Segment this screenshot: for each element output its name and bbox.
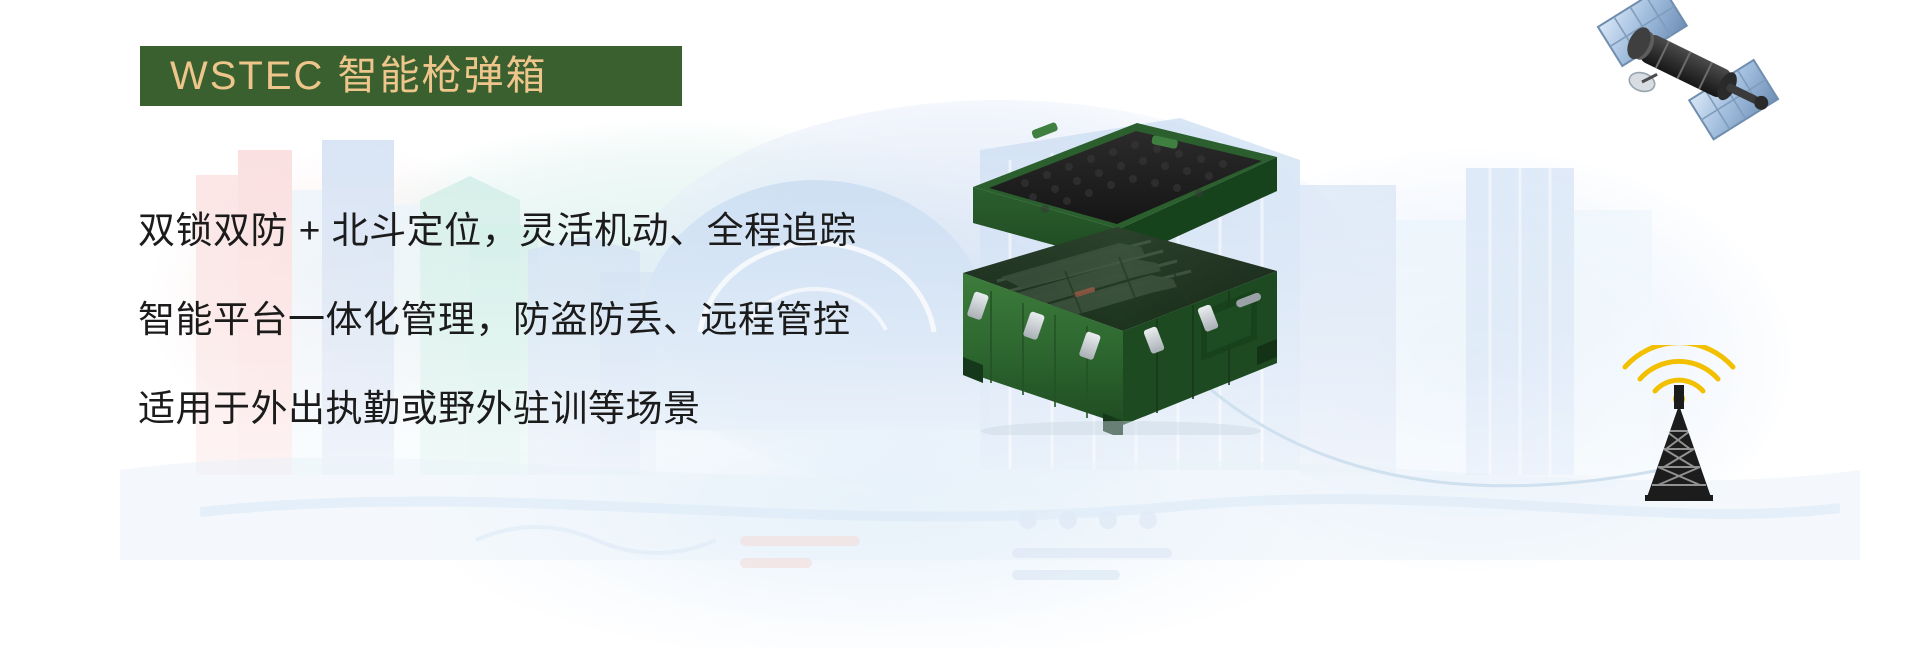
signal-waves-icon xyxy=(1625,345,1733,391)
feature-line-3: 适用于外出执勤或野外驻训等场景 xyxy=(138,364,958,453)
green-ammunition-case xyxy=(905,95,1305,435)
signal-tower-icon xyxy=(1604,345,1754,505)
page-title: WSTEC 智能枪弹箱 xyxy=(170,56,548,96)
feature-list: 双锁双防 + 北斗定位，灵活机动、全程追踪 智能平台一体化管理，防盗防丢、远程管… xyxy=(138,186,958,453)
feature-line-1: 双锁双防 + 北斗定位，灵活机动、全程追踪 xyxy=(138,186,958,275)
promo-banner-root: WSTEC 智能枪弹箱 双锁双防 + 北斗定位，灵活机动、全程追踪 智能平台一体… xyxy=(0,0,1920,648)
case-body xyxy=(963,227,1277,435)
satellite-icon xyxy=(1588,0,1788,146)
satellite-dish xyxy=(1627,67,1658,95)
tower-structure xyxy=(1645,385,1713,501)
feature-line-2: 智能平台一体化管理，防盗防丢、远程管控 xyxy=(138,275,958,364)
title-banner: WSTEC 智能枪弹箱 xyxy=(140,46,682,106)
